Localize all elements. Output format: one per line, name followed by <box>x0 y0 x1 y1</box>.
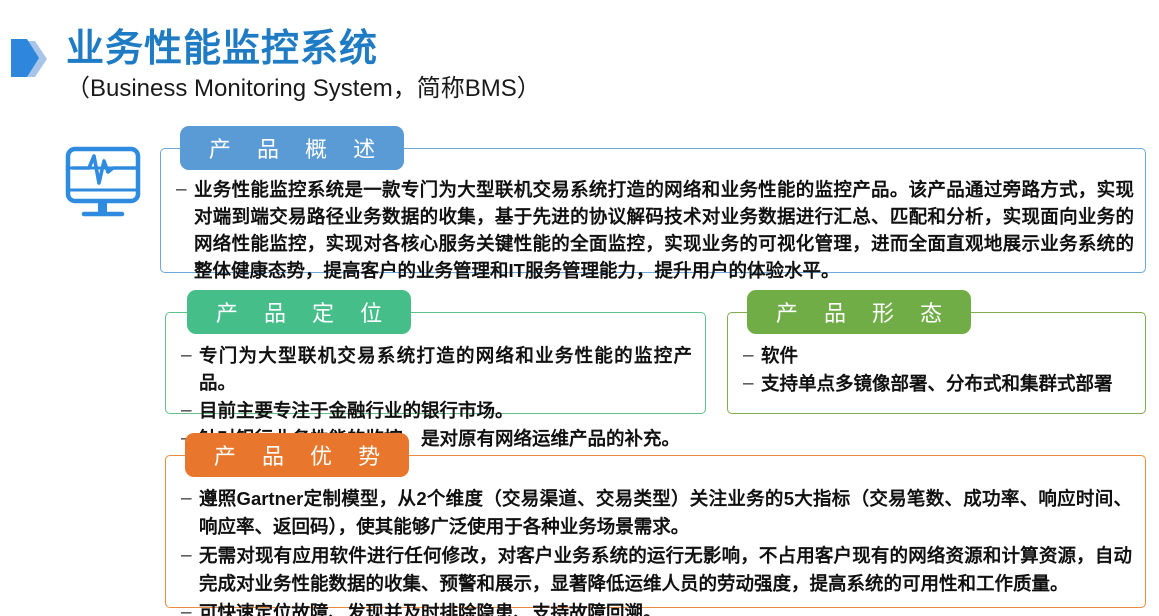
bullet-dash: – <box>743 342 761 369</box>
page-title: 业务性能监控系统 <box>66 27 541 71</box>
list-item-text: 无需对现有应用软件进行任何修改，对客户业务系统的运行无影响，不占用客户现有的网络… <box>199 542 1132 598</box>
bullet-dash: – <box>743 370 761 397</box>
list-item: – 专门为大型联机交易系统打造的网络和业务性能的监控产品。 <box>181 342 692 396</box>
list-item-text: 软件 <box>761 342 1132 369</box>
list-item: – 遵照Gartner定制模型，从2个维度（交易渠道、交易类型）关注业务的5大指… <box>181 485 1132 541</box>
panel-product-overview: 产 品 概 述 – 业务性能监控系统是一款专门为大型联机交易系统打造的网络和业务… <box>160 148 1146 273</box>
panel-product-form: 产 品 形 态 – 软件 – 支持单点多镜像部署、分布式和集群式部署 <box>727 312 1146 414</box>
bullet-dash: – <box>181 599 199 616</box>
panel-body-positioning: – 专门为大型联机交易系统打造的网络和业务性能的监控产品。 – 目前主要专注于金… <box>165 338 706 414</box>
list-item-text: 遵照Gartner定制模型，从2个维度（交易渠道、交易类型）关注业务的5大指标（… <box>199 485 1132 541</box>
panel-tab-form[interactable]: 产 品 形 态 <box>747 290 971 334</box>
panel-body-overview: – 业务性能监控系统是一款专门为大型联机交易系统打造的网络和业务性能的监控产品。… <box>160 172 1146 273</box>
list-item-text: 专门为大型联机交易系统打造的网络和业务性能的监控产品。 <box>199 342 692 396</box>
panel-tab-advantages[interactable]: 产 品 优 势 <box>185 433 409 477</box>
list-item: – 软件 <box>743 342 1132 369</box>
list-item: – 可快速定位故障、发现并及时排除隐患、支持故障回溯。 <box>181 599 1132 616</box>
monitor-pulse-icon <box>57 135 149 227</box>
panel-body-form: – 软件 – 支持单点多镜像部署、分布式和集群式部署 <box>727 338 1146 414</box>
list-item: – 无需对现有应用软件进行任何修改，对客户业务系统的运行无影响，不占用客户现有的… <box>181 542 1132 598</box>
list-item-text: 可快速定位故障、发现并及时排除隐患、支持故障回溯。 <box>199 599 1132 616</box>
title-block: 业务性能监控系统 （Business Monitoring System，简称B… <box>66 27 541 105</box>
page-subtitle: （Business Monitoring System，简称BMS） <box>66 73 541 105</box>
slide-root: 业务性能监控系统 （Business Monitoring System，简称B… <box>0 0 1159 616</box>
panel-product-advantages: 产 品 优 势 – 遵照Gartner定制模型，从2个维度（交易渠道、交易类型）… <box>165 455 1146 608</box>
list-item: – 业务性能监控系统是一款专门为大型联机交易系统打造的网络和业务性能的监控产品。… <box>176 176 1134 284</box>
bullet-dash: – <box>181 342 199 369</box>
list-item-text: 支持单点多镜像部署、分布式和集群式部署 <box>761 370 1132 397</box>
panel-tab-overview[interactable]: 产 品 概 述 <box>180 126 404 170</box>
list-item-text: 目前主要专注于金融行业的银行市场。 <box>199 397 692 424</box>
panel-tab-positioning[interactable]: 产 品 定 位 <box>187 290 411 334</box>
bullet-dash: – <box>176 176 194 203</box>
list-item: – 目前主要专注于金融行业的银行市场。 <box>181 397 692 424</box>
bullet-dash: – <box>181 542 199 569</box>
bullet-dash: – <box>181 485 199 512</box>
list-item: – 支持单点多镜像部署、分布式和集群式部署 <box>743 370 1132 397</box>
panel-product-positioning: 产 品 定 位 – 专门为大型联机交易系统打造的网络和业务性能的监控产品。 – … <box>165 312 706 414</box>
bullet-dash: – <box>181 397 199 424</box>
panel-body-advantages: – 遵照Gartner定制模型，从2个维度（交易渠道、交易类型）关注业务的5大指… <box>165 481 1146 608</box>
list-item-text: 业务性能监控系统是一款专门为大型联机交易系统打造的网络和业务性能的监控产品。该产… <box>194 176 1134 284</box>
double-chevron-logo-icon <box>5 33 61 85</box>
